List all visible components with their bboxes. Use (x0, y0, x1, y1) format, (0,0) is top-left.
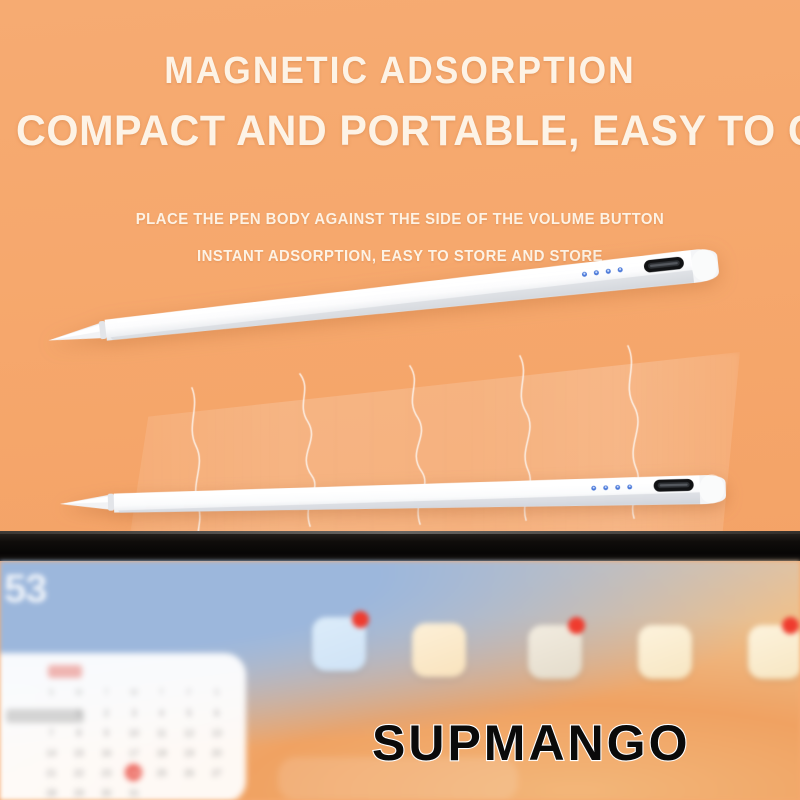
calendar-weekday-header: F (176, 683, 203, 702)
calendar-weekday-header: S (203, 683, 230, 702)
calendar-day: 30 (93, 783, 120, 800)
calendar-day-today: 24 (121, 763, 148, 782)
calendar-day: 10 (121, 723, 148, 742)
calendar-day: 23 (93, 763, 120, 782)
calendar-day (38, 703, 65, 722)
calendar-day: 26 (176, 763, 203, 782)
calendar-day: 27 (203, 763, 230, 782)
calendar-day (148, 783, 175, 800)
calendar-weekday-header: T (93, 683, 120, 702)
calendar-day: 21 (38, 763, 65, 782)
calendar-day: 7 (38, 723, 65, 742)
calendar-weekday-header: S (38, 683, 65, 702)
calendar-day: 13 (203, 723, 230, 742)
calendar-day: 28 (38, 783, 65, 800)
headline-secondary: COMPACT AND PORTABLE, EASY TO CARRY (16, 110, 784, 153)
tablet-bezel (0, 531, 800, 561)
calendar-day: 29 (66, 783, 93, 800)
subcopy-line-1: PLACE THE PEN BODY AGAINST THE SIDE OF T… (16, 212, 784, 228)
calendar-day: 19 (176, 743, 203, 762)
app-badge-3 (568, 617, 585, 634)
usb-c-port-icon (654, 479, 694, 492)
product-banner: MAGNETIC ADSORPTION COMPACT AND PORTABLE… (0, 0, 800, 800)
calendar-day: 17 (121, 743, 148, 762)
calendar-day (176, 783, 203, 800)
app-badge-1 (352, 611, 369, 628)
calendar-day: 16 (93, 743, 120, 762)
calendar-day: 20 (203, 743, 230, 762)
calendar-day: 14 (38, 743, 65, 762)
app-icon-4[interactable] (638, 625, 692, 679)
calendar-day: 2 (93, 703, 120, 722)
calendar-day: 25 (148, 763, 175, 782)
headline-primary: MAGNETIC ADSORPTION (28, 52, 772, 90)
brand-watermark: SUPMANGO (372, 718, 690, 768)
headline-block: MAGNETIC ADSORPTION COMPACT AND PORTABLE… (0, 52, 800, 153)
calendar-day: 15 (66, 743, 93, 762)
app-icon-2[interactable] (412, 623, 466, 677)
calendar-day: 22 (66, 763, 93, 782)
calendar-day-grid: SMTWTFS123456789101112131415161718192021… (38, 683, 230, 799)
calendar-day: 9 (93, 723, 120, 742)
calendar-day: 11 (148, 723, 175, 742)
calendar-day: 4 (148, 703, 175, 722)
app-badge-5 (782, 617, 799, 634)
calendar-day: 31 (121, 783, 148, 800)
hero-panel: MAGNETIC ADSORPTION COMPACT AND PORTABLE… (0, 0, 800, 545)
calendar-day: 8 (66, 723, 93, 742)
calendar-month-label (48, 665, 82, 678)
calendar-day (203, 783, 230, 800)
calendar-weekday-header: M (66, 683, 93, 702)
calendar-day: 5 (176, 703, 203, 722)
calendar-weekday-header: T (148, 683, 175, 702)
calendar-day: 6 (203, 703, 230, 722)
calendar-day: 3 (121, 703, 148, 722)
calendar-day: 1 (66, 703, 93, 722)
calendar-day: 12 (176, 723, 203, 742)
calendar-weekday-header: W (121, 683, 148, 702)
calendar-day: 18 (148, 743, 175, 762)
calendar-widget[interactable]: SMTWTFS123456789101112131415161718192021… (0, 653, 246, 800)
